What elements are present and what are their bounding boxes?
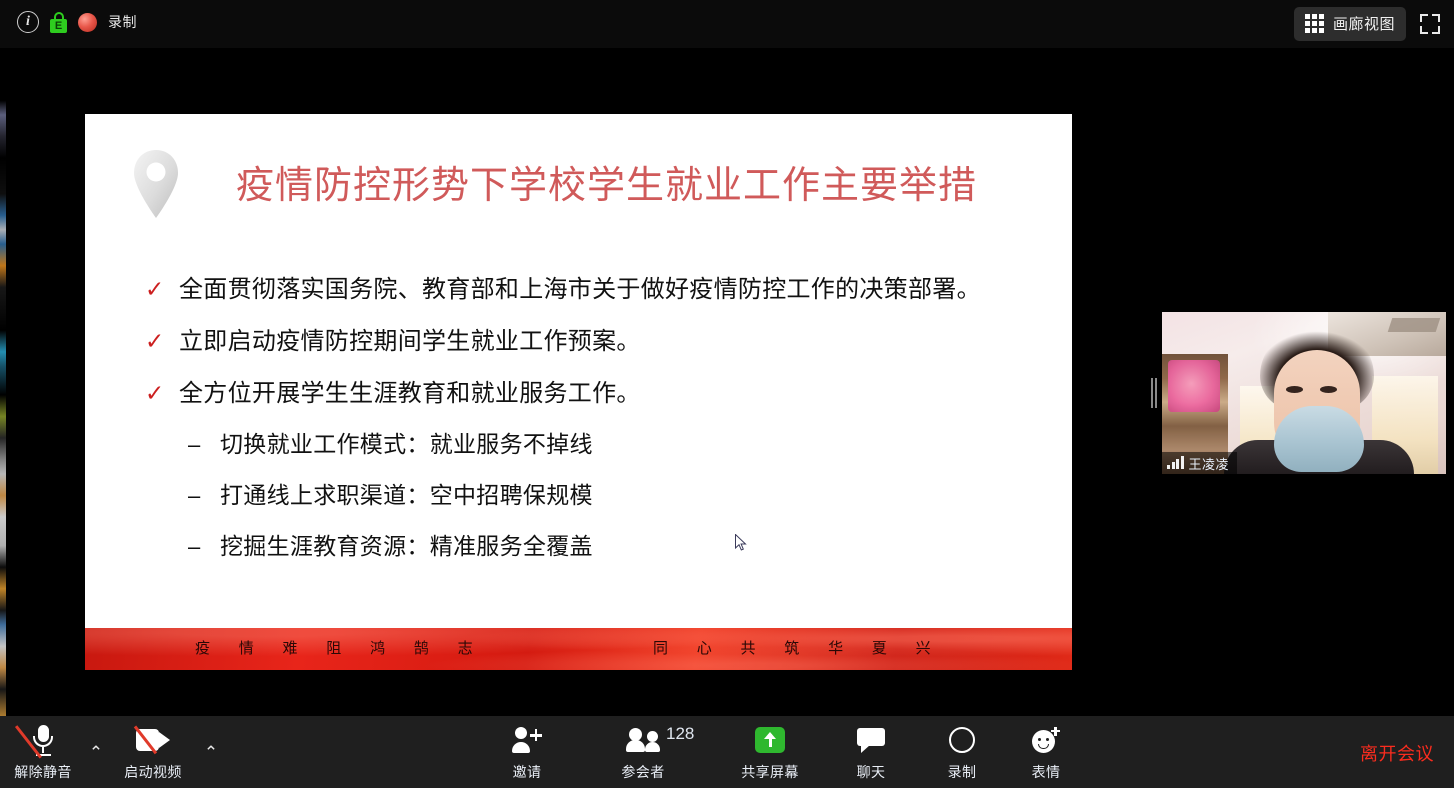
reactions-button[interactable]: 表情	[1003, 722, 1089, 784]
leave-meeting-button[interactable]: 离开会议	[1360, 740, 1434, 766]
slide-sub-bullet-text: 打通线上求职渠道：空中招聘保规模	[220, 481, 593, 511]
meeting-top-bar: i E 录制 画廊视图	[0, 0, 1454, 48]
shared-screen-slide: 疫情防控形势下学校学生就业工作主要举措 ✓ 全面贯彻落实国务院、教育部和上海市关…	[85, 114, 1072, 670]
slide-footer-banner: 疫 情 难 阻 鸿 鹄 志 同 心 共 筑 华 夏 兴	[85, 628, 1072, 670]
participants-button[interactable]: 128 参会者	[600, 722, 686, 784]
participants-button-label: 参会者	[621, 762, 664, 782]
microphone-muted-icon	[32, 722, 54, 758]
invite-button[interactable]: 邀请	[484, 722, 570, 784]
participants-count: 128	[666, 724, 694, 744]
recording-status-label: 录制	[108, 12, 137, 32]
share-screen-button[interactable]: 共享屏幕	[727, 722, 813, 784]
mute-button-label: 解除静音	[14, 762, 72, 782]
dash-icon: –	[188, 430, 220, 460]
record-button-label: 录制	[948, 762, 977, 782]
top-bar-right-group: 画廊视图	[1294, 7, 1440, 41]
check-icon: ✓	[145, 378, 179, 408]
lock-icon[interactable]: E	[50, 12, 67, 33]
participant-name-label: 王凌凌	[1189, 454, 1230, 473]
video-person-eye-left	[1286, 386, 1303, 393]
chat-bubble-icon	[857, 722, 885, 758]
slide-bullet-list: ✓ 全面贯彻落实国务院、教育部和上海市关于做好疫情防控工作的决策部署。 ✓ 立即…	[145, 274, 1065, 583]
panel-drag-handle[interactable]	[1151, 378, 1157, 408]
record-button[interactable]: 录制	[919, 722, 1005, 784]
slide-footer-left-text: 疫 情 难 阻 鸿 鹄 志	[195, 637, 485, 658]
invite-button-label: 邀请	[513, 762, 542, 782]
slide-title: 疫情防控形势下学校学生就业工作主要举措	[236, 154, 977, 209]
video-person-face-mask	[1274, 406, 1364, 472]
fullscreen-icon[interactable]	[1420, 14, 1440, 34]
zoom-meeting-window: i E 录制 画廊视图	[0, 0, 1454, 788]
start-video-button-label: 启动视频	[124, 762, 182, 782]
slide-sub-bullet-item: – 切换就业工作模式：就业服务不掉线	[188, 430, 1065, 460]
gallery-view-label: 画廊视图	[1333, 13, 1395, 34]
check-icon: ✓	[145, 326, 179, 356]
people-icon: 128	[626, 722, 660, 758]
dash-icon: –	[188, 481, 220, 511]
add-person-icon	[512, 722, 542, 758]
mute-button[interactable]: 解除静音	[0, 722, 86, 784]
encryption-letter: E	[50, 19, 67, 33]
start-video-button[interactable]: 启动视频	[110, 722, 196, 784]
slide-sub-bullet-item: – 打通线上求职渠道：空中招聘保规模	[188, 481, 1065, 511]
info-icon[interactable]: i	[17, 11, 39, 33]
slide-sub-bullet-item: – 挖掘生涯教育资源：精准服务全覆盖	[188, 532, 1065, 562]
video-person-eye-right	[1320, 386, 1337, 393]
smiley-plus-icon	[1032, 722, 1060, 758]
chevron-up-icon: ⌃	[89, 743, 103, 763]
signal-bars-icon	[1167, 457, 1184, 469]
slide-bullet-text: 全面贯彻落实国务院、教育部和上海市关于做好疫情防控工作的决策部署。	[179, 274, 981, 305]
participant-name-badge: 王凌凌	[1162, 452, 1237, 474]
share-screen-button-label: 共享屏幕	[741, 762, 799, 782]
slide-bullet-text: 立即启动疫情防控期间学生就业工作预案。	[179, 326, 641, 357]
slide-bullet-item: ✓ 立即启动疫情防控期间学生就业工作预案。	[145, 326, 1065, 357]
location-pin-icon	[132, 148, 180, 220]
gallery-view-button[interactable]: 画廊视图	[1294, 7, 1406, 41]
record-circle-icon	[949, 722, 975, 758]
slide-bullet-item: ✓ 全方位开展学生生涯教育和就业服务工作。	[145, 378, 1065, 409]
desktop-background-sliver	[0, 0, 6, 718]
chat-button-label: 聊天	[857, 762, 886, 782]
camera-off-icon	[136, 722, 170, 758]
slide-sub-bullet-text: 切换就业工作模式：就业服务不掉线	[220, 430, 593, 460]
record-dot-icon[interactable]	[78, 13, 97, 32]
slide-bullet-text: 全方位开展学生生涯教育和就业服务工作。	[179, 378, 641, 409]
audio-options-chevron[interactable]: ⌃	[83, 740, 109, 766]
meeting-controls-toolbar: 解除静音 ⌃ 启动视频 ⌃ 邀请	[0, 716, 1454, 788]
dash-icon: –	[188, 532, 220, 562]
reactions-button-label: 表情	[1032, 762, 1061, 782]
slide-footer-right-text: 同 心 共 筑 华 夏 兴	[653, 637, 943, 658]
top-bar-left-group: i E 录制	[17, 11, 137, 33]
grid-icon	[1305, 14, 1324, 33]
chevron-up-icon: ⌃	[204, 743, 218, 763]
video-options-chevron[interactable]: ⌃	[198, 740, 224, 766]
slide-sub-bullet-text: 挖掘生涯教育资源：精准服务全覆盖	[220, 532, 593, 562]
mouse-cursor	[735, 534, 747, 552]
chat-button[interactable]: 聊天	[828, 722, 914, 784]
video-person-head	[1258, 328, 1376, 474]
slide-bullet-item: ✓ 全面贯彻落实国务院、教育部和上海市关于做好疫情防控工作的决策部署。	[145, 274, 1065, 305]
participant-video-tile[interactable]: 王凌凌	[1162, 312, 1446, 474]
share-screen-icon	[755, 722, 785, 758]
check-icon: ✓	[145, 274, 179, 304]
